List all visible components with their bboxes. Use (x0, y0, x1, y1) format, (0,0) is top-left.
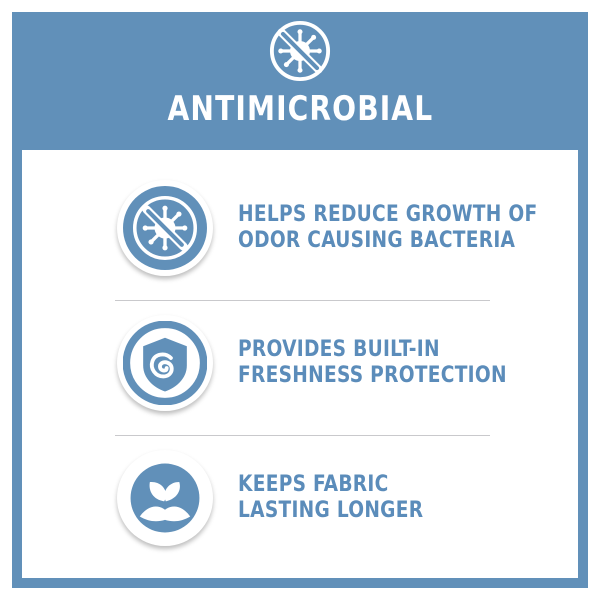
list-item: PROVIDES BUILT-IN FRESHNESS PROTECTION (22, 299, 578, 427)
icon-disc (117, 180, 213, 276)
antimicrobial-infographic: ANTIMICROBIAL (0, 0, 600, 600)
icon-disc (117, 450, 213, 546)
list-item: KEEPS FABRIC LASTING LONGER (22, 434, 578, 562)
content-panel: HELPS REDUCE GROWTH OF ODOR CAUSING BACT… (22, 150, 578, 578)
feature-icon-wrap (117, 450, 213, 546)
divider (115, 300, 490, 301)
blue-frame: ANTIMICROBIAL (12, 12, 588, 588)
leaf-fabric-icon (123, 456, 207, 540)
virus-prohibited-icon (263, 14, 337, 88)
feature-icon-wrap (117, 315, 213, 411)
list-item-label: PROVIDES BUILT-IN FRESHNESS PROTECTION (238, 337, 507, 389)
shield-freshness-icon (123, 321, 207, 405)
list-item-label: KEEPS FABRIC LASTING LONGER (238, 472, 423, 524)
icon-disc (117, 315, 213, 411)
page-title: ANTIMICROBIAL (167, 90, 433, 128)
list-item: HELPS REDUCE GROWTH OF ODOR CAUSING BACT… (22, 164, 578, 292)
feature-icon-wrap (117, 180, 213, 276)
feature-list: HELPS REDUCE GROWTH OF ODOR CAUSING BACT… (22, 150, 578, 578)
header-banner: ANTIMICROBIAL (12, 12, 588, 150)
virus-prohibited-icon (123, 186, 207, 270)
list-item-label: HELPS REDUCE GROWTH OF ODOR CAUSING BACT… (238, 202, 537, 254)
divider (115, 435, 490, 436)
